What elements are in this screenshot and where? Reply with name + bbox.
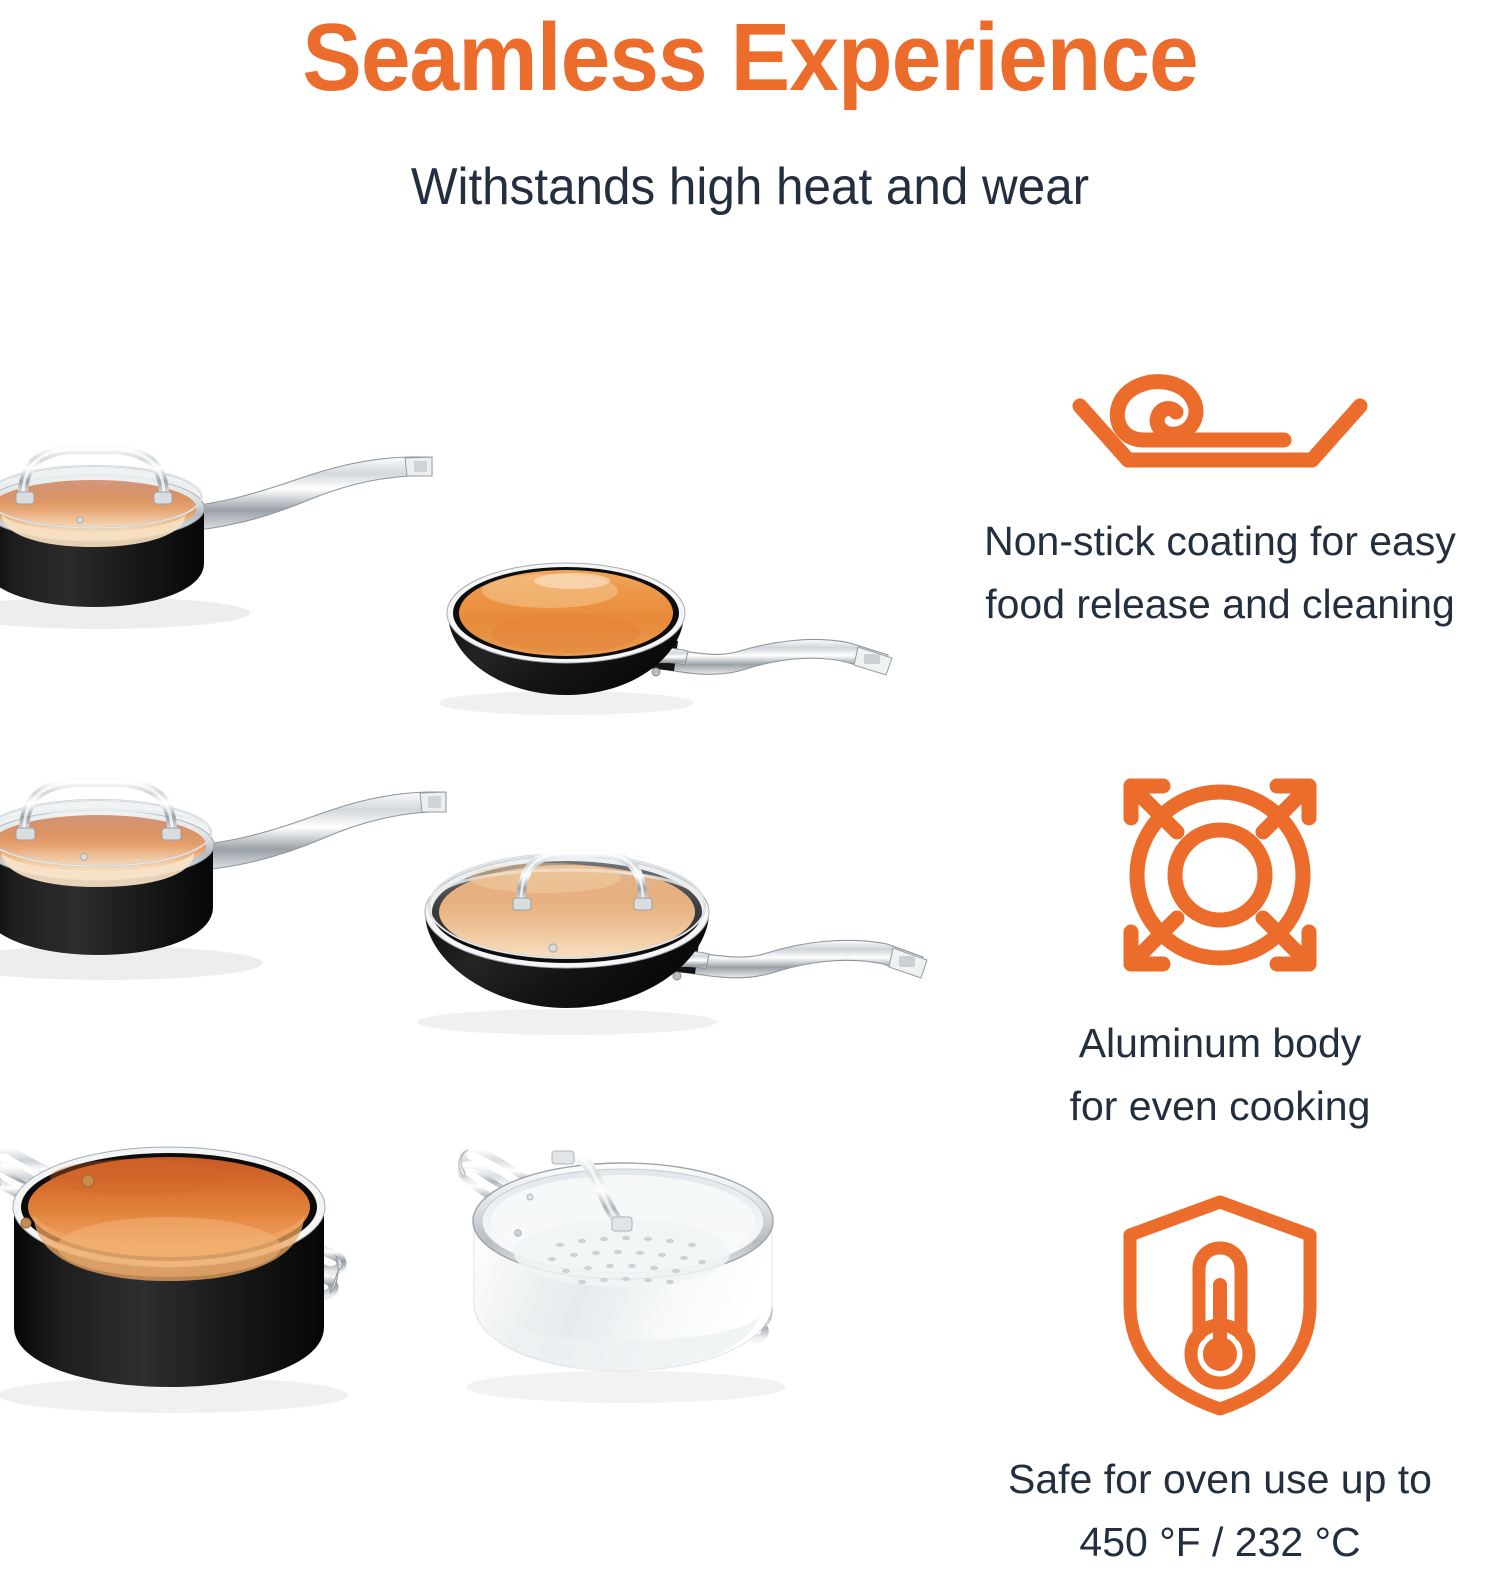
feature-non-stick-line-2: food release and cleaning (940, 573, 1500, 636)
fry-pan-lidded-svg (415, 840, 935, 1040)
product-image-saucepan-small-lidded (0, 375, 450, 640)
product-image-saucepan-large-lidded (0, 705, 450, 990)
feature-non-stick-line-1: Non-stick coating for easy (940, 510, 1500, 573)
feature-oven-safe-line-2: 450 °F / 232 °C (940, 1511, 1500, 1574)
feature-oven-safe-captions: Safe for oven use up to 450 °F / 232 °C (940, 1448, 1500, 1574)
page-subtitle: Withstands high heat and wear (38, 156, 1463, 218)
feature-non-stick: Non-stick coating for easy food release … (940, 360, 1500, 636)
fry-pan-handle (671, 940, 923, 977)
feature-oven-safe-icon-wrap (940, 1122, 1500, 1418)
feature-aluminum-icon-wrap (940, 690, 1500, 990)
fry-pan-open-svg (440, 555, 920, 720)
feature-list: Non-stick coating for easy food release … (940, 360, 1500, 1485)
feature-aluminum-body: Aluminum body for even cooking (940, 690, 1500, 1138)
product-image-steamer-insert (448, 1125, 808, 1415)
page-title: Seamless Experience (53, 4, 1448, 112)
main-content: Non-stick coating for easy food release … (0, 300, 1500, 1485)
nonstick-pan-swirl-icon (1070, 362, 1370, 480)
feature-aluminum-line-1: Aluminum body (940, 1012, 1500, 1075)
even-heat-circles-arrows-icon (1105, 760, 1335, 990)
feature-non-stick-icon-wrap (940, 360, 1500, 480)
shield-thermometer-icon (1118, 1193, 1323, 1418)
product-gallery (0, 300, 940, 1485)
feature-oven-safe: Safe for oven use up to 450 °F / 232 °C (940, 1122, 1500, 1574)
feature-oven-safe-line-1: Safe for oven use up to (940, 1448, 1500, 1511)
header: Seamless Experience Withstands high heat… (0, 0, 1500, 218)
steamer-insert-svg (448, 1125, 808, 1415)
product-image-stock-pot (0, 1115, 368, 1425)
stock-pot-svg (0, 1115, 368, 1425)
saucepan-large-lidded-svg (0, 705, 450, 990)
feature-aluminum-captions: Aluminum body for even cooking (940, 1012, 1500, 1138)
product-image-fry-pan-open (440, 555, 920, 720)
feature-non-stick-captions: Non-stick coating for easy food release … (940, 510, 1500, 636)
saucepan-small-lidded-svg (0, 375, 450, 640)
product-image-fry-pan-lidded (415, 840, 935, 1040)
